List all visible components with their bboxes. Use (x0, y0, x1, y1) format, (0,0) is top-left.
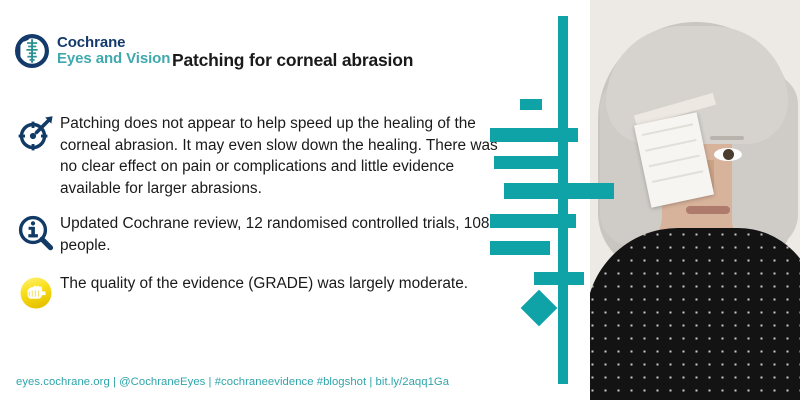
logo-line-eyes-and-vision: Eyes and Vision (57, 51, 170, 67)
list-item-text: The quality of the evidence (GRADE) was … (60, 272, 512, 295)
forest-plot-confidence-interval (534, 272, 584, 285)
forest-plot-confidence-interval (490, 241, 550, 255)
forest-plot-confidence-interval (490, 128, 578, 142)
cochrane-eyes-and-vision-logo: Cochrane Eyes and Vision (14, 33, 170, 69)
list-item-text: Updated Cochrane review, 12 randomised c… (60, 212, 512, 256)
hero-graphic (490, 0, 800, 400)
forest-plot-confidence-interval (494, 156, 566, 169)
forest-plot-confidence-interval (490, 214, 576, 228)
grade-moderate-hand-icon (12, 272, 60, 319)
list-item: The quality of the evidence (GRADE) was … (12, 272, 512, 319)
blogshot-slide: Cochrane Eyes and Vision Patching for co… (0, 0, 800, 400)
list-item: Patching does not appear to help speed u… (12, 112, 512, 199)
line-of-no-effect (558, 16, 568, 384)
target-arrow-icon (12, 112, 60, 159)
logo-wordmark: Cochrane Eyes and Vision (57, 35, 170, 67)
magnifier-info-icon (12, 212, 60, 259)
page-title: Patching for corneal abrasion (172, 50, 413, 71)
cochrane-c-forest-plot-icon (14, 33, 50, 69)
forest-plot-summary-diamond (521, 290, 558, 327)
list-item: Updated Cochrane review, 12 randomised c… (12, 212, 512, 259)
forest-plot-confidence-interval (504, 183, 614, 199)
forest-plot-graphic (490, 0, 800, 400)
list-item-text: Patching does not appear to help speed u… (60, 112, 512, 199)
key-messages-list: Patching does not appear to help speed u… (12, 112, 512, 332)
footer-links[interactable]: eyes.cochrane.org | @CochraneEyes | #coc… (16, 376, 449, 388)
forest-plot-confidence-interval (520, 99, 542, 110)
logo-line-cochrane: Cochrane (57, 35, 170, 51)
